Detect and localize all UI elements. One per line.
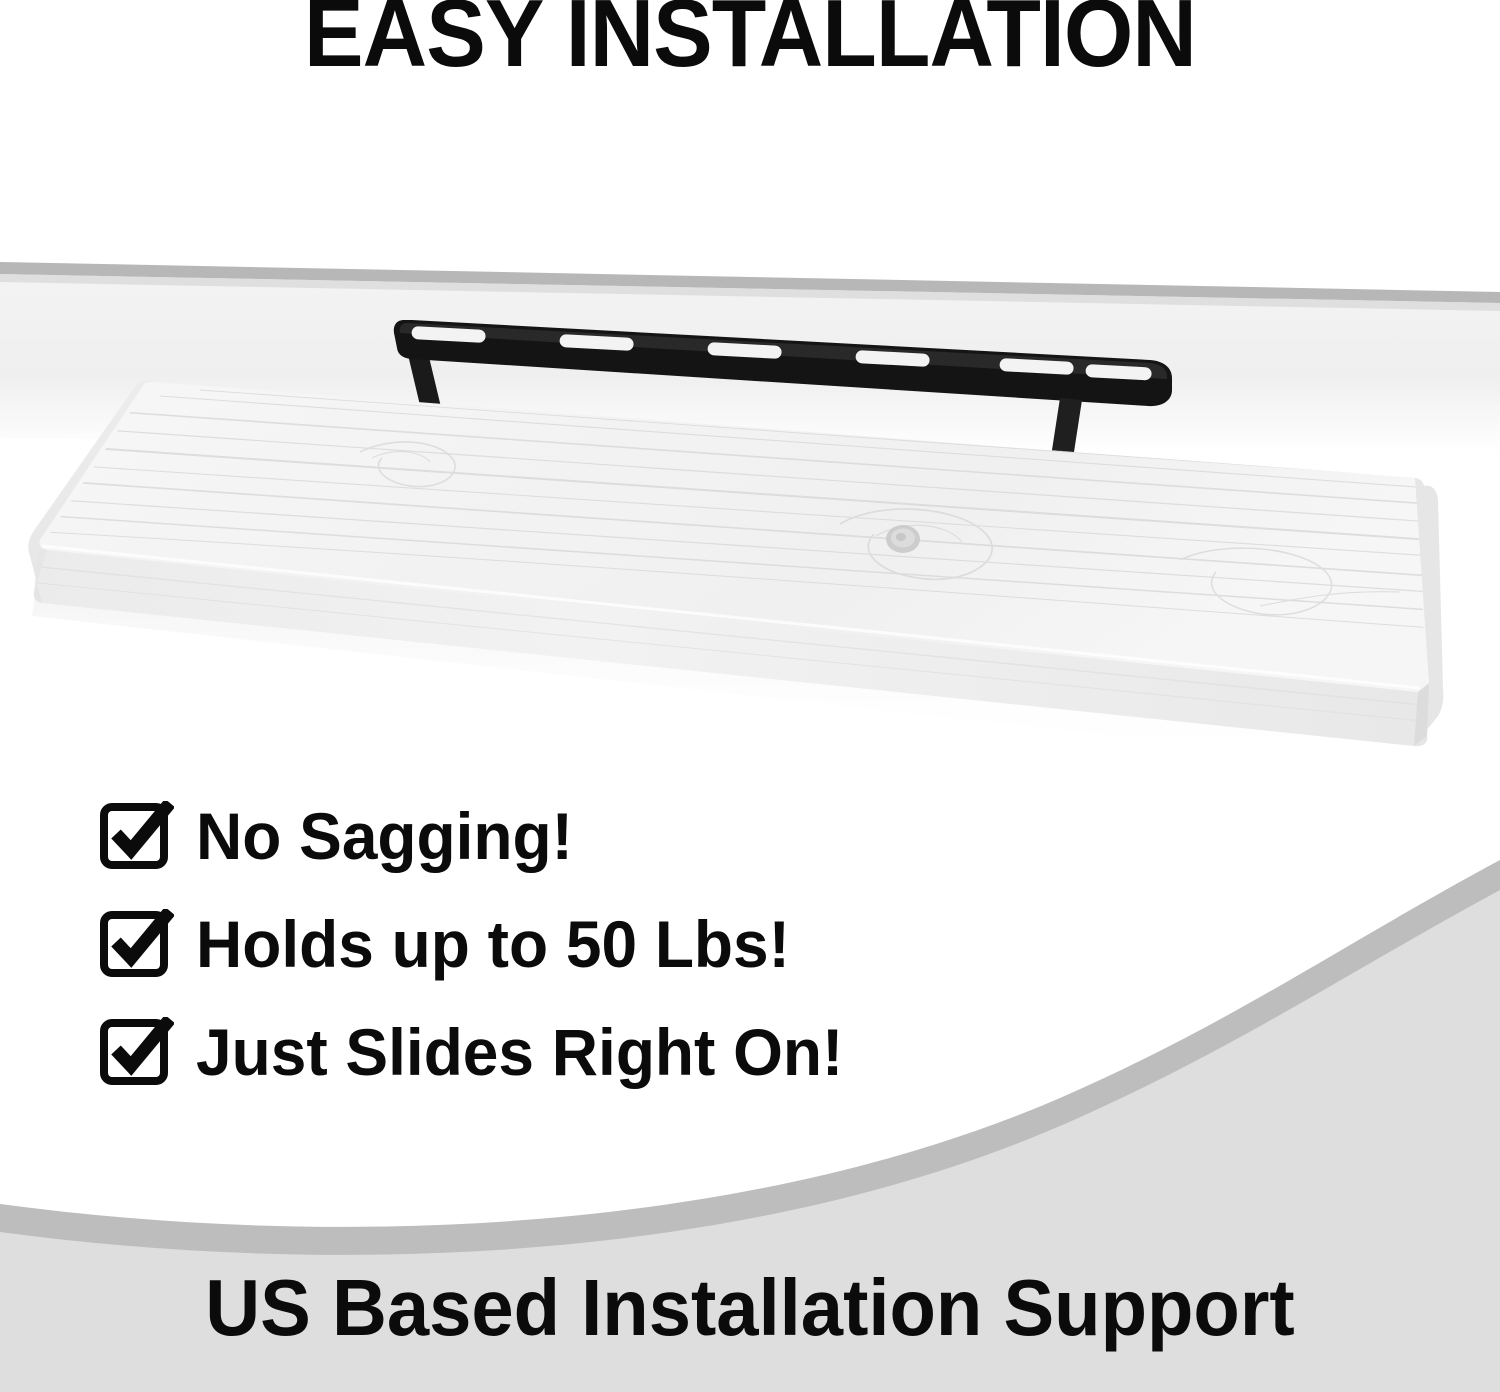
checkbox-checked-icon — [100, 909, 174, 979]
feature-label: Holds up to 50 Lbs! — [196, 909, 790, 979]
page-title: EASY INSTALLATION — [53, 0, 1448, 84]
list-item: Holds up to 50 Lbs! — [100, 890, 1000, 998]
feature-list: No Sagging! Holds up to 50 Lbs! Just Sli… — [100, 782, 1000, 1106]
product-infographic: EASY INSTALLATION — [0, 0, 1500, 1392]
list-item: Just Slides Right On! — [100, 998, 1000, 1106]
checkbox-checked-icon — [100, 1017, 174, 1087]
list-item: No Sagging! — [100, 782, 1000, 890]
footer-support-text: US Based Installation Support — [38, 1262, 1463, 1354]
product-hero-illustration — [0, 0, 1500, 1392]
feature-label: Just Slides Right On! — [196, 1017, 843, 1087]
checkbox-checked-icon — [100, 801, 174, 871]
feature-label: No Sagging! — [196, 801, 573, 871]
wood-knot — [886, 525, 920, 553]
